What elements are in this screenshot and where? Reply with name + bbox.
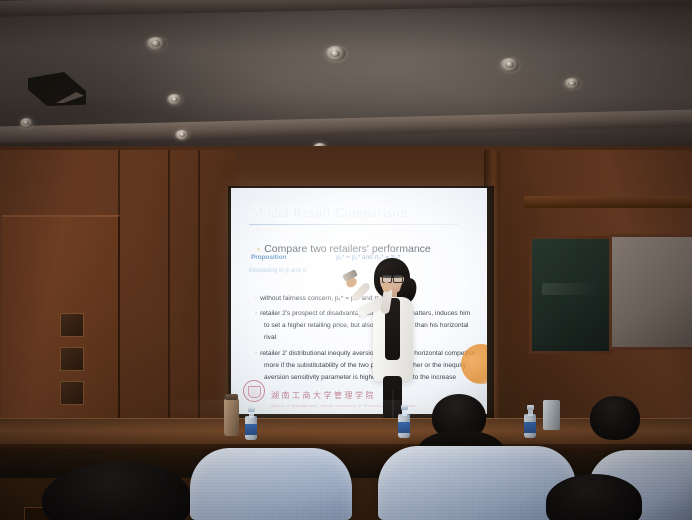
eyeglasses-icon <box>382 275 403 281</box>
presenter <box>352 258 430 434</box>
rear-door[interactable] <box>2 215 120 437</box>
water-bottle[interactable] <box>524 404 536 438</box>
conference-room-photo: Model Result Comparison ◦Compare two ret… <box>0 0 692 520</box>
sub-bullet-marker-icon: ◦ <box>255 311 257 317</box>
water-bottle[interactable] <box>245 406 257 440</box>
presenter-right-hand <box>382 282 391 292</box>
door-window <box>60 313 84 337</box>
chalk-residue <box>542 283 600 295</box>
board-frame <box>524 196 692 208</box>
downlight-icon <box>175 130 189 140</box>
thermos-flask[interactable] <box>224 398 239 436</box>
downlight-icon <box>146 37 166 50</box>
panel-seam <box>168 150 170 450</box>
water-bottle[interactable] <box>398 404 410 438</box>
thermos-lid <box>225 394 238 400</box>
panel-seam <box>198 150 200 450</box>
door-window <box>60 347 84 371</box>
bullet-marker-icon: ◦ <box>257 244 260 254</box>
audience-head <box>590 396 640 440</box>
slide-title: Model Result Comparison <box>251 205 407 221</box>
downlight-icon <box>500 58 519 72</box>
downlight-icon <box>167 94 182 105</box>
ceiling <box>0 0 692 152</box>
downlight-icon <box>325 46 346 61</box>
whiteboard <box>609 234 692 350</box>
chalkboard <box>529 236 612 354</box>
sub-bullet-marker-icon: ◦ <box>255 351 257 357</box>
bottle-cap <box>401 405 408 410</box>
title-underline <box>249 224 459 225</box>
bottle-cap <box>527 405 534 410</box>
downlight-icon <box>20 118 33 128</box>
door-window <box>60 381 84 405</box>
bottle-cap <box>248 407 255 412</box>
sub-bullet-marker-icon: ◦ <box>255 296 257 302</box>
metal-tumbler[interactable] <box>543 400 560 430</box>
downlight-icon <box>564 78 580 89</box>
audience-chair[interactable] <box>190 448 352 520</box>
slide-proposition-note: increasing in β and α <box>249 267 306 274</box>
university-seal-icon <box>243 380 265 402</box>
